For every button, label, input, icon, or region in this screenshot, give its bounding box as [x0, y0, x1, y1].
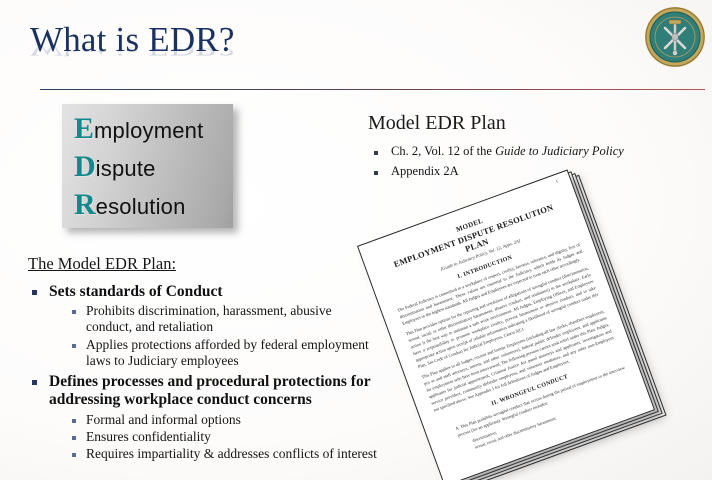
sub-bullet-marker-icon [72, 310, 76, 314]
left-content-column: The Model EDR Plan: Sets standards of Co… [28, 254, 380, 466]
edr-line-dispute: Dispute [74, 148, 233, 186]
sub-bullet-marker-icon [72, 436, 76, 440]
citation-italic-title: Guide to Judiciary Policy [495, 144, 624, 158]
sub-bullet-text: Requires impartiality & addresses confli… [86, 446, 377, 462]
sub-bullet-text: Ensures confidentiality [86, 429, 211, 445]
bullet-text: Sets standards of Conduct [49, 283, 223, 301]
edr-word-dispute: ispute [96, 156, 156, 181]
bullet-marker-icon [32, 290, 37, 295]
right-bullet-item-appendix: Appendix 2A [368, 164, 688, 179]
right-bullet-item-citation: Ch. 2, Vol. 12 of the Guide to Judiciary… [368, 144, 688, 159]
edr-line-employment: Employment [74, 110, 233, 148]
document-page-number: 1 [555, 179, 559, 184]
sub-bullet-item: Prohibits discrimination, harassment, ab… [28, 303, 380, 335]
slide-canvas: What is EDR? What is EDR? Employment [0, 0, 712, 480]
sub-bullet-marker-icon [72, 419, 76, 423]
sub-bullet-marker-icon [72, 344, 76, 348]
right-bullet-text: Ch. 2, Vol. 12 of the Guide to Judiciary… [391, 144, 624, 159]
edr-cap-e: E [74, 112, 94, 145]
sub-bullet-item: Ensures confidentiality [28, 429, 380, 445]
right-column-heading: Model EDR Plan [368, 112, 688, 135]
sub-bullet-item: Applies protections afforded by federal … [28, 337, 380, 369]
sub-bullet-item: Requires impartiality & addresses confli… [28, 446, 380, 462]
sub-bullet-item: Formal and informal options [28, 412, 380, 428]
bullet-item-standards-of-conduct: Sets standards of Conduct [28, 283, 380, 301]
edr-word-employment: mployment [94, 118, 203, 143]
bullet-marker-icon [374, 151, 378, 155]
right-content-column: Model EDR Plan Ch. 2, Vol. 12 of the Gui… [368, 112, 688, 184]
header-divider-line [40, 89, 705, 90]
page-title: What is EDR? [30, 22, 450, 57]
edr-cap-r: R [74, 188, 96, 221]
administrative-office-us-courts-seal-icon [644, 6, 706, 68]
citation-prefix: Ch. 2, Vol. 12 of the [391, 144, 495, 158]
subbullet-list-standards: Prohibits discrimination, harassment, ab… [28, 303, 380, 369]
edr-word-resolution: esolution [96, 194, 186, 219]
sub-bullet-text: Prohibits discrimination, harassment, ab… [86, 303, 380, 335]
sub-bullet-text: Applies protections afforded by federal … [86, 337, 380, 369]
title-block: What is EDR? What is EDR? [30, 22, 450, 84]
right-bullet-text: Appendix 2A [391, 164, 459, 179]
subbullet-list-processes: Formal and informal options Ensures conf… [28, 412, 380, 463]
bullet-text: Defines processes and procedural protect… [49, 373, 380, 410]
bullet-marker-icon [374, 171, 378, 175]
bullet-marker-icon [32, 380, 37, 385]
bullet-item-defines-processes: Defines processes and procedural protect… [28, 373, 380, 410]
edr-line-resolution: Resolution [74, 186, 233, 224]
edr-acronym-box: Employment Dispute Resolution [62, 104, 233, 228]
model-edr-plan-document-image: 1 MODEL EMPLOYMENT DISPUTE RESOLUTION PL… [376, 178, 686, 474]
sub-bullet-marker-icon [72, 453, 76, 457]
sub-bullet-text: Formal and informal options [86, 412, 241, 428]
document-stack: 1 MODEL EMPLOYMENT DISPUTE RESOLUTION PL… [357, 169, 655, 480]
edr-cap-d: D [74, 150, 96, 183]
left-column-heading: The Model EDR Plan: [28, 254, 380, 274]
